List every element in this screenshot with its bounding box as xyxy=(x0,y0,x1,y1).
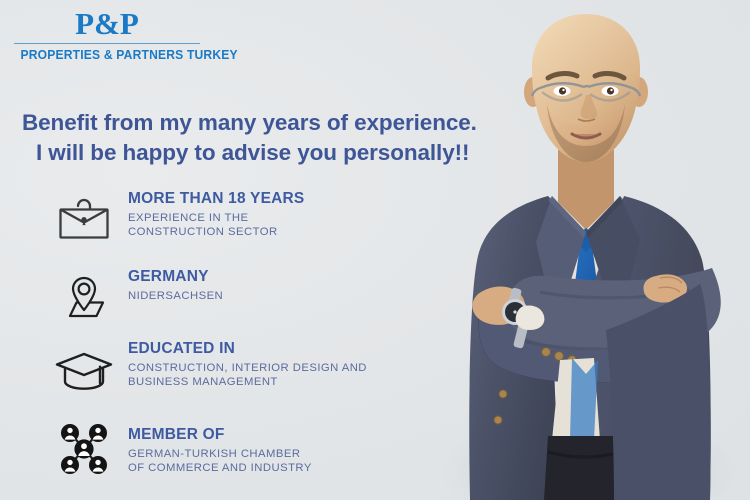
logo-divider xyxy=(14,43,200,44)
network-people-icon xyxy=(40,416,128,480)
feature-item: MEMBER OF GERMAN-TURKISH CHAMBER OF COMM… xyxy=(40,416,460,492)
headline: Benefit from my many years of experience… xyxy=(22,108,492,168)
feature-text: MEMBER OF GERMAN-TURKISH CHAMBER OF COMM… xyxy=(128,416,312,475)
feature-subtitle-line-1: CONSTRUCTION, INTERIOR DESIGN AND xyxy=(128,361,367,375)
briefcase-icon xyxy=(40,188,128,252)
graduation-cap-icon xyxy=(40,338,128,402)
feature-item: MORE THAN 18 YEARS EXPERIENCE IN THE CON… xyxy=(40,188,460,264)
feature-subtitle: EXPERIENCE IN THE CONSTRUCTION SECTOR xyxy=(128,211,304,239)
feature-subtitle-line-1: NIDERSACHSEN xyxy=(128,289,223,303)
feature-list: MORE THAN 18 YEARS EXPERIENCE IN THE CON… xyxy=(40,188,460,492)
feature-text: MORE THAN 18 YEARS EXPERIENCE IN THE CON… xyxy=(128,188,304,239)
headline-line-1: Benefit from my many years of experience… xyxy=(22,108,492,138)
headline-line-2: I will be happy to advise you personally… xyxy=(22,138,492,168)
feature-title: EDUCATED IN xyxy=(128,340,367,358)
feature-subtitle: CONSTRUCTION, INTERIOR DESIGN AND BUSINE… xyxy=(128,361,367,389)
feature-subtitle: NIDERSACHSEN xyxy=(128,289,223,303)
feature-subtitle: GERMAN-TURKISH CHAMBER OF COMMERCE AND I… xyxy=(128,447,312,475)
feature-title: MORE THAN 18 YEARS xyxy=(128,190,304,208)
feature-subtitle-line-2: CONSTRUCTION SECTOR xyxy=(128,225,304,239)
feature-subtitle-line-1: EXPERIENCE IN THE xyxy=(128,211,304,225)
feature-item: EDUCATED IN CONSTRUCTION, INTERIOR DESIG… xyxy=(40,338,460,416)
feature-item: GERMANY NIDERSACHSEN xyxy=(40,264,460,338)
feature-text: EDUCATED IN CONSTRUCTION, INTERIOR DESIG… xyxy=(128,338,367,389)
feature-title: MEMBER OF xyxy=(128,426,312,444)
logo-tagline: PROPERTIES & PARTNERS TURKEY xyxy=(21,48,194,62)
feature-title: GERMANY xyxy=(128,268,223,286)
map-pin-icon xyxy=(40,264,128,328)
businessman-portrait xyxy=(420,0,750,500)
logo-mark-text: P&P xyxy=(14,8,200,40)
feature-subtitle-line-2: BUSINESS MANAGEMENT xyxy=(128,375,367,389)
promo-banner: P&P PROPERTIES & PARTNERS TURKEY Benefit… xyxy=(0,0,750,500)
feature-subtitle-line-1: GERMAN-TURKISH CHAMBER xyxy=(128,447,312,461)
brand-logo[interactable]: P&P PROPERTIES & PARTNERS TURKEY xyxy=(14,8,200,62)
feature-subtitle-line-2: OF COMMERCE AND INDUSTRY xyxy=(128,461,312,475)
feature-text: GERMANY NIDERSACHSEN xyxy=(128,264,223,303)
